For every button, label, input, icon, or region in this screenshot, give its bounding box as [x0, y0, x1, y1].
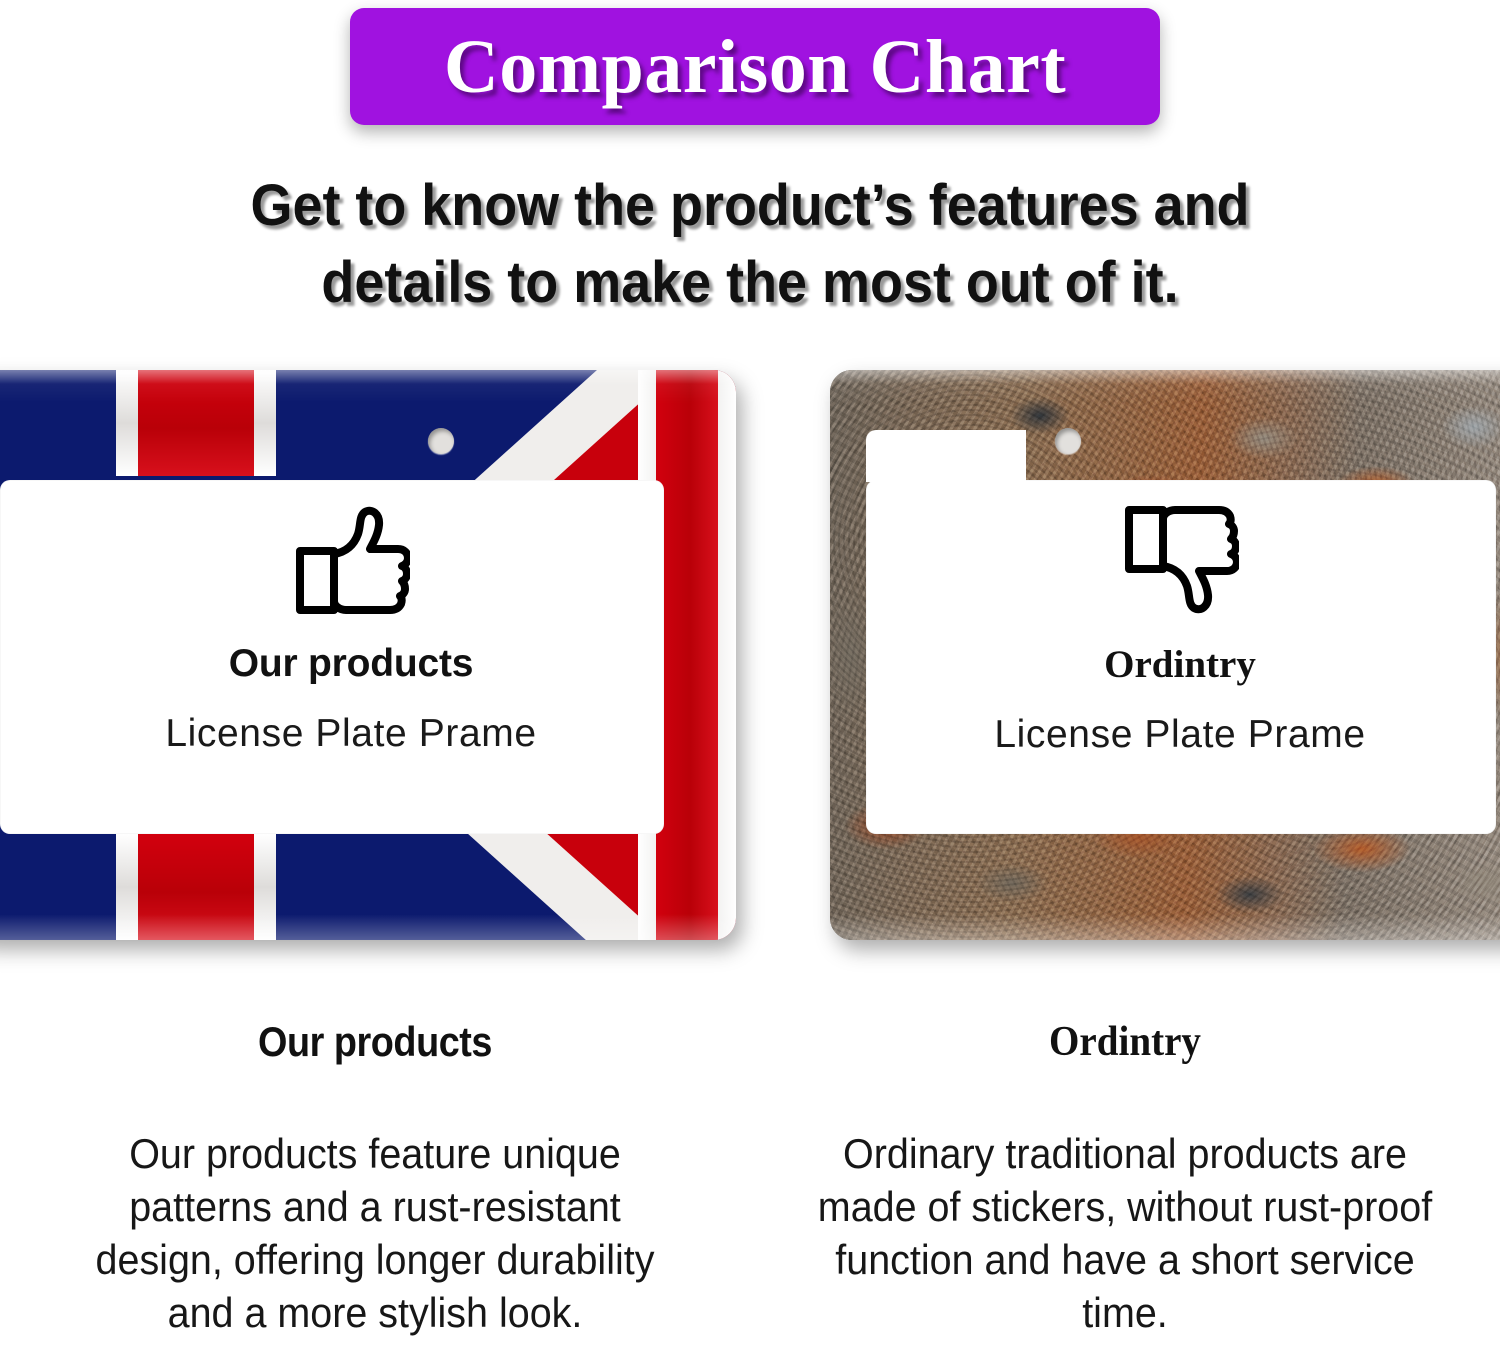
column-body-right: Ordinary traditional products are made o…: [804, 1128, 1445, 1340]
description-columns: Our products Our products feature unique…: [0, 1018, 1500, 1364]
product-frames: Our products License Plate Prame O: [0, 370, 1500, 950]
subtitle-line-2: details to make the most out of it.: [53, 245, 1448, 322]
plate-heading-left: Our products: [0, 642, 736, 686]
plate-subheading-left: License Plate Prame: [0, 712, 736, 756]
title-banner: Comparison Chart: [350, 8, 1160, 125]
product-frame-ordintry: Ordintry License Plate Prame: [830, 370, 1500, 940]
thumbs-up-icon: [292, 502, 410, 618]
mount-hole-icon: [428, 428, 454, 454]
mount-hole-icon: [1055, 428, 1081, 454]
plate-notch-right: [866, 430, 1026, 482]
product-frame-our-products: Our products License Plate Prame: [0, 370, 736, 940]
description-column-our-products: Our products Our products feature unique…: [0, 1018, 750, 1364]
column-heading-right: Ordintry: [808, 1018, 1442, 1066]
plate-heading-right: Ordintry: [830, 642, 1500, 687]
subtitle-line-1: Get to know the product’s features and: [53, 168, 1448, 245]
description-column-ordintry: Ordintry Ordinary traditional products a…: [750, 1018, 1500, 1364]
plate-subheading-right: License Plate Prame: [830, 713, 1500, 757]
thumbs-down-icon: [1121, 502, 1239, 618]
plate-content-left: Our products License Plate Prame: [0, 502, 736, 756]
column-body-left: Our products feature unique patterns and…: [54, 1128, 695, 1340]
page-title: Comparison Chart: [444, 29, 1066, 105]
column-heading-left: Our products: [68, 1018, 682, 1066]
plate-content-right: Ordintry License Plate Prame: [830, 502, 1500, 757]
subtitle: Get to know the product’s features and d…: [53, 168, 1448, 321]
comparison-chart-page: Comparison Chart Get to know the product…: [0, 0, 1500, 1364]
